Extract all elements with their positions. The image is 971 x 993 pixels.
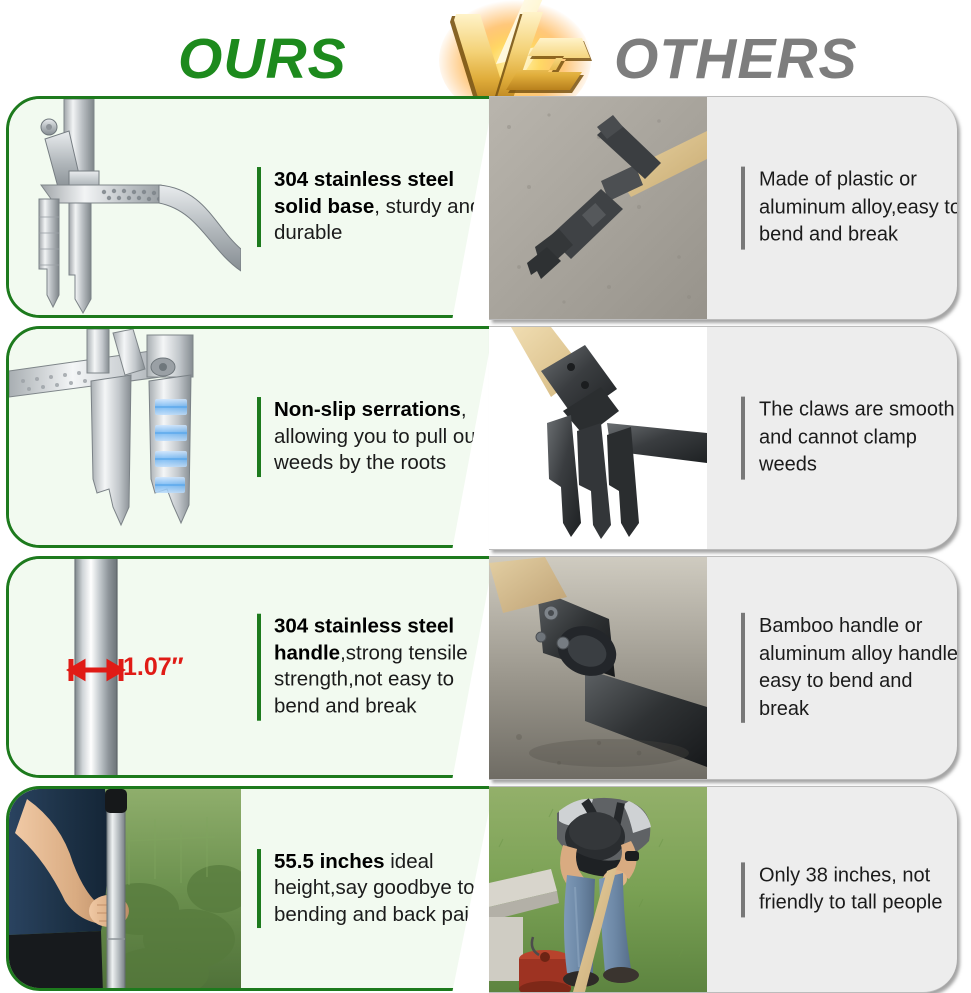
ours-text-2: Non-slip serrations, allowing you to pul… [257, 397, 491, 477]
ours-card-4: 55.5 inches ideal height,say goodbye to … [6, 786, 494, 991]
ours-text-1: 304 stainless steel solid base, sturdy a… [257, 167, 491, 247]
ours-text-2-bold: Non-slip serrations [274, 398, 461, 421]
dimension-label: 1.07″ [123, 653, 184, 682]
others-text-4: Only 38 inches, not friendly to tall peo… [741, 862, 957, 917]
others-text-1: Made of plastic or aluminum alloy,easy t… [741, 167, 957, 250]
steel-tube-diameter-image: 1.07″ [9, 559, 241, 775]
comparison-row: 304 stainless steel solid base, sturdy a… [0, 96, 971, 318]
ours-card-3: 1.07″ 304 stainless steel handle,strong … [6, 556, 494, 778]
others-card-3: Bamboo handle or aluminum alloy handle, … [489, 556, 957, 780]
ours-text-4: 55.5 inches ideal height,say goodbye to … [257, 849, 491, 929]
ours-text-3: 304 stainless steel handle,strong tensil… [257, 614, 491, 721]
plastic-weeder-on-concrete-image [489, 97, 707, 319]
comparison-row: 1.07″ 304 stainless steel handle,strong … [0, 556, 971, 778]
bamboo-handle-joint-image [489, 557, 707, 779]
others-text-3: Bamboo handle or aluminum alloy handle, … [741, 613, 957, 723]
stainless-steel-weeder-head-image [9, 99, 241, 315]
comparison-header: OURS [0, 0, 971, 100]
header-others-label: OTHERS [614, 26, 858, 92]
smooth-black-claws-image [489, 327, 707, 549]
others-card-4: Only 38 inches, not friendly to tall peo… [489, 786, 957, 993]
ours-text-4-bold: 55.5 inches [274, 850, 385, 873]
others-card-2: The claws are smooth and cannot clamp we… [489, 326, 957, 550]
comparison-row: Non-slip serrations, allowing you to pul… [0, 326, 971, 548]
serrated-claws-closeup-image [9, 329, 241, 545]
others-card-1: Made of plastic or aluminum alloy,easy t… [489, 96, 957, 320]
ours-card-1: 304 stainless steel solid base, sturdy a… [6, 96, 494, 318]
header-ours-label: OURS [178, 26, 347, 92]
comparison-row: 55.5 inches ideal height,say goodbye to … [0, 786, 971, 991]
person-bending-over-short-tool-image [489, 787, 707, 992]
others-text-2: The claws are smooth and cannot clamp we… [741, 397, 957, 480]
ours-card-2: Non-slip serrations, allowing you to pul… [6, 326, 494, 548]
person-holding-tall-weeder-image [9, 789, 241, 988]
